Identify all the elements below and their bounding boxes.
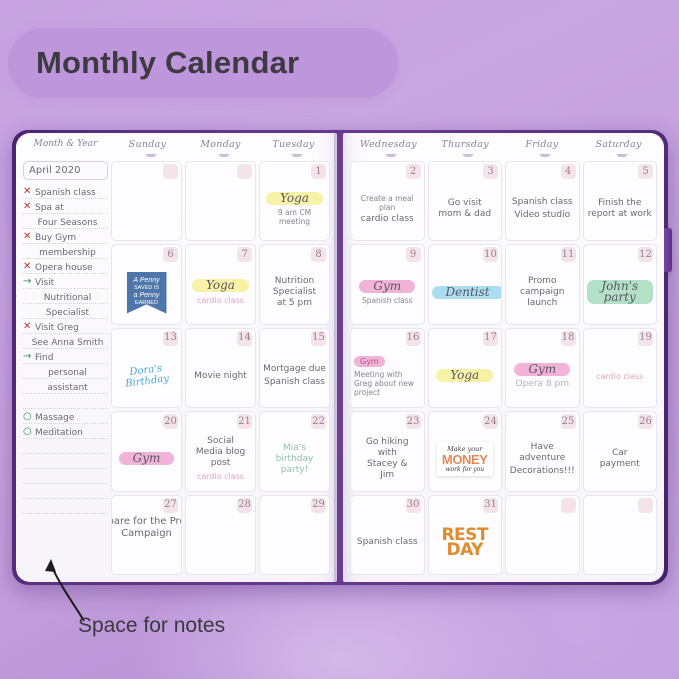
calendar-entry: Spanish class: [263, 377, 326, 388]
weekday-saturday: Saturday: [580, 139, 657, 161]
day-entries: REST DAY: [429, 514, 502, 572]
day-cell-15[interactable]: 15Mortgage dueSpanish class: [259, 328, 330, 408]
note-text: Meditation: [35, 428, 83, 438]
calendar-entry: John's party: [587, 280, 654, 305]
calendar-week-row: 27Prepare for the Promo Campaign2829: [111, 495, 330, 575]
calendar-entry: cardio class: [189, 295, 252, 306]
day-cell-18[interactable]: 18GymOpera 8 pm: [505, 328, 580, 408]
calendar-entry: Yoga: [263, 192, 326, 206]
day-cell-12[interactable]: 12John's party: [583, 244, 658, 324]
day-number: 31: [483, 498, 498, 513]
day-entries: A PennySAVED ISa PennyEARNED: [112, 263, 181, 321]
title-banner: Monthly Calendar: [8, 28, 398, 98]
note-text: Spanish class: [35, 188, 96, 198]
note-line[interactable]: Four Seasons: [23, 214, 108, 229]
day-entries: Finish the report at work: [584, 180, 657, 238]
day-number: 26: [638, 414, 653, 429]
calendar-entry: Gym: [509, 363, 576, 377]
note-text: See Anna Smith: [32, 338, 104, 348]
notes-column[interactable]: Month & Year April 2020 ✕Spanish class✕S…: [23, 139, 111, 577]
note-line[interactable]: ✕Visit Greg: [23, 319, 108, 334]
day-entries: cardio class: [584, 347, 657, 405]
planner-notebook: Month & Year April 2020 ✕Spanish class✕S…: [12, 130, 668, 585]
note-text: Visit Greg: [35, 323, 79, 333]
day-cell-8[interactable]: 8Nutrition Specialist at 5 pm: [259, 244, 330, 324]
day-number: [561, 498, 576, 513]
day-entries: Go hiking with Stacey & Jim: [351, 430, 424, 488]
day-cell-7[interactable]: 7Yogacardio class: [185, 244, 256, 324]
day-number: 22: [311, 414, 326, 429]
circle-icon: ○: [23, 427, 32, 437]
day-cell-5[interactable]: 5Finish the report at work: [583, 161, 658, 241]
day-number: 2: [406, 164, 421, 179]
money-sticker: Make yourMONEYwork for you: [437, 442, 493, 476]
day-number: 4: [561, 164, 576, 179]
day-number: 10: [483, 247, 498, 262]
day-entries: GymMeeting with Greg about new project: [351, 347, 424, 405]
weekday-header-right: WednesdayThursdayFridaySaturday: [350, 139, 657, 161]
calendar-entry: Gym: [354, 356, 421, 368]
day-entries: Promo campaign launch: [506, 263, 579, 321]
day-cell-30[interactable]: 30Spanish class: [350, 495, 425, 575]
day-entries: Dora's Birthday: [112, 347, 181, 405]
day-entries: Spanish classVideo studio: [506, 180, 579, 238]
day-number: 11: [561, 247, 576, 262]
cross-icon: ✕: [23, 262, 31, 272]
day-entries: GymSpanish class: [351, 263, 424, 321]
day-cell-9[interactable]: 9GymSpanish class: [350, 244, 425, 324]
calendar-entry: Gym: [354, 280, 421, 294]
day-number: 29: [311, 498, 326, 513]
calendar-entry: cardio class: [354, 214, 421, 225]
day-entries: Have adventureDecorations!!!: [506, 430, 579, 488]
day-cell-empty[interactable]: [583, 495, 658, 575]
day-cell-19[interactable]: 19cardio class: [583, 328, 658, 408]
calendar-grid-left: 1Yoga9 am CM meeting6A PennySAVED ISa Pe…: [111, 161, 330, 575]
calendar-entry: Dentist: [432, 286, 499, 300]
note-text: Find: [35, 353, 53, 363]
day-cell-13[interactable]: 13Dora's Birthday: [111, 328, 182, 408]
day-cell-22[interactable]: 22Mia's birthday party!: [259, 411, 330, 491]
note-line[interactable]: ✕Buy Gym: [23, 229, 108, 244]
day-cell-11[interactable]: 11Promo campaign launch: [505, 244, 580, 324]
penny-sticker: A PennySAVED ISa PennyEARNED: [127, 272, 167, 314]
day-entries: Yoga9 am CM meeting: [260, 180, 329, 238]
weekday-thursday: Thursday: [427, 139, 504, 161]
day-number: 16: [406, 331, 421, 346]
day-entries: Mia's birthday party!: [260, 430, 329, 488]
weekday-header-left: SundayMondayTuesday: [111, 139, 330, 161]
note-line[interactable]: →Visit: [23, 274, 108, 289]
calendar-entry: Go visit mom & dad: [432, 198, 499, 220]
weekday-tuesday: Tuesday: [257, 139, 330, 161]
calendar-entry: REST DAY: [432, 528, 499, 558]
note-line[interactable]: Specialist: [23, 304, 108, 319]
day-entries: Go visit mom & dad: [429, 180, 502, 238]
calendar-entry: Yoga: [189, 279, 252, 293]
calendar-entry: Spanish class: [354, 296, 421, 305]
weekday-monday: Monday: [184, 139, 257, 161]
calendar-entry: Mia's birthday party!: [263, 443, 326, 476]
calendar-week-row: 23Go hiking with Stacey & Jim24Make your…: [350, 411, 657, 491]
day-cell-3[interactable]: 3Go visit mom & dad: [428, 161, 503, 241]
day-cell-10[interactable]: 10Dentist: [428, 244, 503, 324]
calendar-entry: Car payment: [587, 448, 654, 470]
note-text: assistant: [47, 383, 87, 393]
weekday-friday: Friday: [504, 139, 581, 161]
day-cell-16[interactable]: 16GymMeeting with Greg about new project: [350, 328, 425, 408]
day-entries: Yoga: [429, 347, 502, 405]
day-entries: [112, 514, 181, 572]
arrow-icon: →: [23, 277, 31, 287]
day-entries: Car payment: [584, 430, 657, 488]
calendar-entry: Decorations!!!: [509, 466, 576, 477]
day-number: 24: [483, 414, 498, 429]
day-cell-29[interactable]: 29: [259, 495, 330, 575]
calendar-entry: cardio class: [189, 471, 252, 482]
calendar-entry: Meeting with Greg about new project: [354, 370, 421, 397]
day-number: [638, 498, 653, 513]
note-line[interactable]: ○Meditation: [23, 424, 108, 439]
note-line[interactable]: Nutritional: [23, 289, 108, 304]
note-line[interactable]: assistant: [23, 379, 108, 394]
day-number: 20: [163, 414, 178, 429]
day-entries: GymOpera 8 pm: [506, 347, 579, 405]
note-text: Visit: [35, 278, 54, 288]
note-text: Massage: [35, 413, 74, 423]
page-title: Monthly Calendar: [36, 45, 299, 81]
calendar-page-left: Month & Year April 2020 ✕Spanish class✕S…: [16, 133, 337, 582]
highlight-mark: Gym: [514, 363, 570, 376]
day-number: 3: [483, 164, 498, 179]
highlight-mark: Gym: [119, 452, 175, 465]
day-number: 8: [311, 247, 326, 262]
note-text: Specialist: [46, 308, 89, 318]
day-number: 12: [638, 247, 653, 262]
highlight-mark: John's party: [587, 280, 654, 304]
month-year-label: Month & Year: [23, 139, 108, 161]
day-entries: Mortgage dueSpanish class: [260, 347, 329, 405]
note-line[interactable]: personal: [23, 364, 108, 379]
day-cell-17[interactable]: 17Yoga: [428, 328, 503, 408]
note-line[interactable]: See Anna Smith: [23, 334, 108, 349]
highlight-mark: Gym: [359, 280, 415, 293]
notes-lines[interactable]: ✕Spanish class✕Spa atFour Seasons✕Buy Gy…: [23, 184, 108, 514]
calendar-week-row: 9GymSpanish class10Dentist11Promo campai…: [350, 244, 657, 324]
day-entries: Social Media blog postcardio class: [186, 430, 255, 488]
day-cell-empty[interactable]: [111, 161, 182, 241]
calendar-entry: Nutrition Specialist at 5 pm: [263, 276, 326, 309]
note-text: membership: [39, 248, 96, 258]
day-number: 1: [311, 164, 326, 179]
note-line[interactable]: ○Massage: [23, 409, 108, 424]
cross-icon: ✕: [23, 202, 31, 212]
note-line[interactable]: [23, 454, 108, 469]
calendar-entry: Create a meal plan: [354, 194, 421, 212]
calendar-week-row: 20Gym21Social Media blog postcardio clas…: [111, 411, 330, 491]
highlight-mark: Yoga: [266, 192, 323, 205]
highlight-mark: Yoga: [192, 279, 249, 292]
calendar-entry: Have adventure: [509, 442, 576, 464]
note-line[interactable]: [23, 394, 108, 409]
calendar-entry: Mortgage due: [263, 364, 326, 375]
note-line[interactable]: [23, 484, 108, 499]
day-entries: Make yourMONEYwork for you: [429, 430, 502, 488]
day-cell-empty[interactable]: [185, 161, 256, 241]
day-entries: John's party: [584, 263, 657, 321]
day-cell-27[interactable]: 27Prepare for the Promo Campaign: [111, 495, 182, 575]
day-cell-21[interactable]: 21Social Media blog postcardio class: [185, 411, 256, 491]
day-entries: Nutrition Specialist at 5 pm: [260, 263, 329, 321]
day-entries: Create a meal plancardio class: [351, 180, 424, 238]
month-year-input[interactable]: April 2020: [23, 161, 108, 180]
calendar-entry: Dora's Birthday: [114, 361, 179, 391]
highlight-mark: Yoga: [436, 369, 493, 382]
cross-icon: ✕: [23, 322, 31, 332]
day-entries: Spanish class: [351, 514, 424, 572]
note-line[interactable]: ✕Opera house: [23, 259, 108, 274]
day-number: 21: [237, 414, 252, 429]
note-line[interactable]: membership: [23, 244, 108, 259]
calendar-entry: cardio class: [587, 371, 654, 382]
day-cell-empty[interactable]: [505, 495, 580, 575]
day-number: 15: [311, 331, 326, 346]
day-cell-31[interactable]: 31REST DAY: [428, 495, 503, 575]
calendar-entry: Promo campaign launch: [509, 276, 576, 309]
calendar-week-row: 6A PennySAVED ISa PennyEARNED7Yogacardio…: [111, 244, 330, 324]
note-text: Buy Gym: [35, 233, 76, 243]
day-cell-6[interactable]: 6A PennySAVED ISa PennyEARNED: [111, 244, 182, 324]
day-cell-23[interactable]: 23Go hiking with Stacey & Jim: [350, 411, 425, 491]
day-number: [237, 164, 252, 179]
day-cell-20[interactable]: 20Gym: [111, 411, 182, 491]
calendar-week-row: 13Dora's Birthday14Movie night15Mortgage…: [111, 328, 330, 408]
day-cell-26[interactable]: 26Car payment: [583, 411, 658, 491]
note-line[interactable]: ✕Spanish class: [23, 184, 108, 199]
notes-caption: Space for notes: [78, 614, 225, 638]
day-cell-25[interactable]: 25Have adventureDecorations!!!: [505, 411, 580, 491]
day-number: 18: [561, 331, 576, 346]
day-entries: Dentist: [429, 263, 502, 321]
calendar-entry: Finish the report at work: [587, 198, 654, 220]
day-entries: Gym: [112, 430, 181, 488]
cross-icon: ✕: [23, 232, 31, 242]
day-entries: Movie night: [186, 347, 255, 405]
weekday-sunday: Sunday: [111, 139, 184, 161]
day-cell-14[interactable]: 14Movie night: [185, 328, 256, 408]
day-number: 25: [561, 414, 576, 429]
day-cell-4[interactable]: 4Spanish classVideo studio: [505, 161, 580, 241]
day-number: 19: [638, 331, 653, 346]
day-cell-2[interactable]: 2Create a meal plancardio class: [350, 161, 425, 241]
day-number: 6: [163, 247, 178, 262]
calendar-entry: Yoga: [432, 369, 499, 383]
note-text: Spa at: [35, 203, 64, 213]
highlight-mark: Dentist: [432, 286, 503, 299]
calendar-week-row: 30Spanish class31REST DAY: [350, 495, 657, 575]
note-text: Four Seasons: [38, 218, 98, 228]
calendar-entry: Spanish class: [509, 197, 576, 208]
arrow-icon: →: [23, 352, 31, 362]
day-entries: Yogacardio class: [186, 263, 255, 321]
calendar-entry: Gym: [115, 452, 178, 466]
day-number: 13: [163, 331, 178, 346]
calendar-grid-right: 2Create a meal plancardio class3Go visit…: [350, 161, 657, 575]
day-cell-28[interactable]: 28: [185, 495, 256, 575]
calendar-entry: Social Media blog post: [189, 436, 252, 469]
note-line[interactable]: [23, 439, 108, 454]
day-number: 9: [406, 247, 421, 262]
note-line[interactable]: [23, 499, 108, 514]
note-line[interactable]: →Find: [23, 349, 108, 364]
day-number: 28: [237, 498, 252, 513]
calendar-page-right: WednesdayThursdayFridaySaturday 2Create …: [343, 133, 664, 582]
day-number: 5: [638, 164, 653, 179]
calendar-entry: Spanish class: [354, 537, 421, 548]
day-number: 14: [237, 331, 252, 346]
calendar-entry: Opera 8 pm: [509, 379, 576, 390]
note-text: personal: [48, 368, 87, 378]
cross-icon: ✕: [23, 187, 31, 197]
day-cell-1[interactable]: 1Yoga9 am CM meeting: [259, 161, 330, 241]
note-text: Opera house: [35, 263, 93, 273]
day-cell-24[interactable]: 24Make yourMONEYwork for you: [428, 411, 503, 491]
day-number: 27: [163, 498, 178, 513]
day-number: 23: [406, 414, 421, 429]
calendar-entry: Video studio: [509, 210, 576, 221]
day-number: [163, 164, 178, 179]
weekday-wednesday: Wednesday: [350, 139, 427, 161]
calendar-entry: 9 am CM meeting: [263, 208, 326, 226]
day-number: 7: [237, 247, 252, 262]
calendar-entry: Go hiking with Stacey & Jim: [354, 437, 421, 481]
note-line[interactable]: [23, 469, 108, 484]
day-number: 17: [483, 331, 498, 346]
circle-icon: ○: [23, 412, 32, 422]
calendar-entry: Movie night: [189, 371, 252, 382]
note-line[interactable]: ✕Spa at: [23, 199, 108, 214]
calendar-week-row: 2Create a meal plancardio class3Go visit…: [350, 161, 657, 241]
highlight-mark: Gym: [354, 356, 385, 367]
calendar-week-row: 1Yoga9 am CM meeting: [111, 161, 330, 241]
calendar-week-row: 16GymMeeting with Greg about new project…: [350, 328, 657, 408]
day-number: 30: [406, 498, 421, 513]
note-text: Nutritional: [44, 293, 91, 303]
